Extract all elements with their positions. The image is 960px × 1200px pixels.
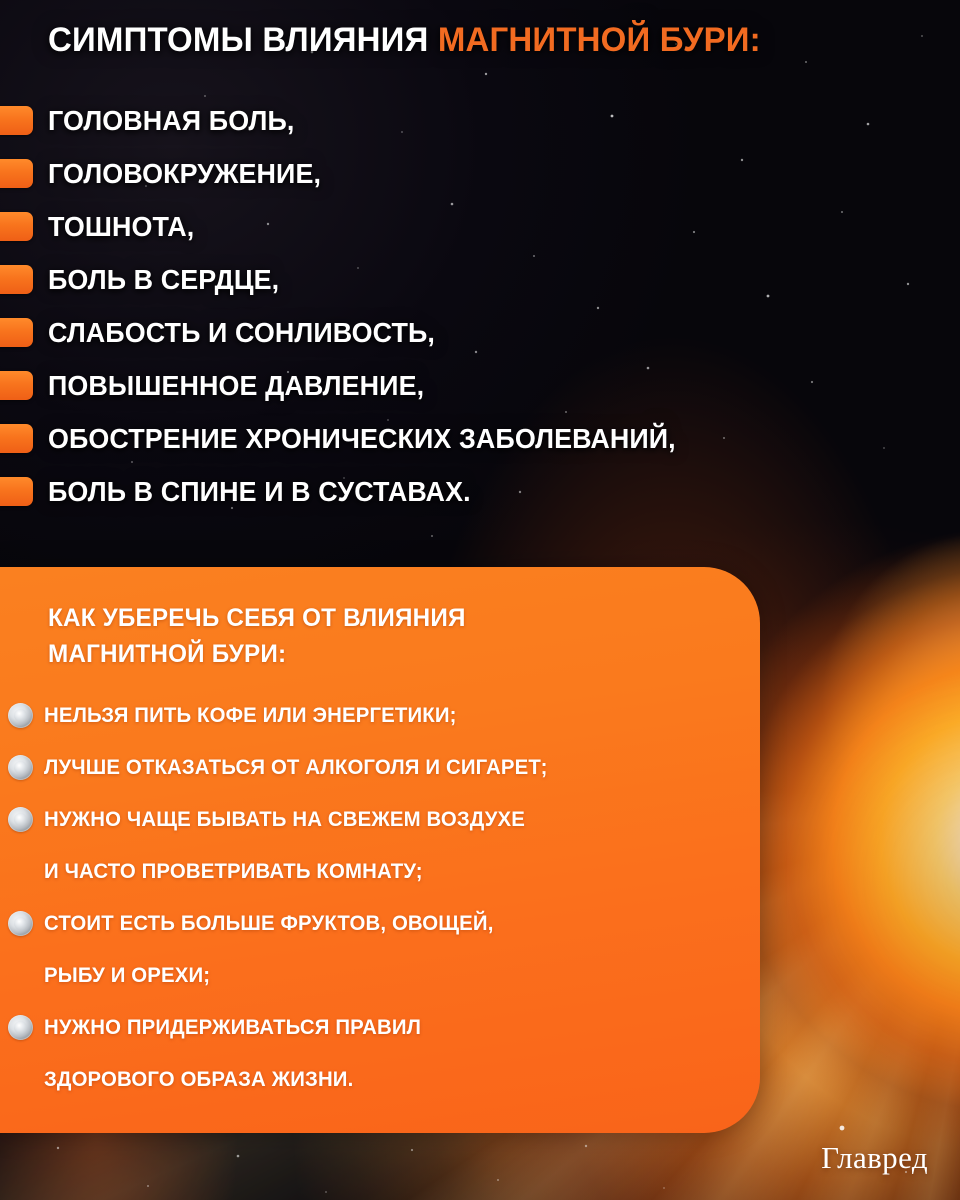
tab-bullet-icon: [0, 265, 33, 294]
advice-line: НЕЛЬЗЯ ПИТЬ КОФЕ ИЛИ ЭНЕРГЕТИКИ;: [0, 695, 760, 747]
advice-line-continued: И ЧАСТО ПРОВЕТРИВАТЬ КОМНАТУ;: [0, 851, 760, 903]
symptoms-section: СИМПТОМЫ ВЛИЯНИЯ МАГНИТНОЙ БУРИ: ГОЛОВНА…: [0, 0, 960, 567]
advice-label: НЕЛЬЗЯ ПИТЬ КОФЕ ИЛИ ЭНЕРГЕТИКИ;: [44, 695, 457, 737]
tab-bullet-icon: [0, 318, 33, 347]
advice-title-line1: КАК УБЕРЕЧЬ СЕБЯ ОТ ВЛИЯНИЯ: [48, 600, 466, 636]
advice-line: НУЖНО ЧАЩЕ БЫВАТЬ НА СВЕЖЕМ ВОЗДУХЕ: [0, 799, 760, 851]
list-item: ГОЛОВНАЯ БОЛЬ,: [0, 96, 960, 149]
advice-list: НЕЛЬЗЯ ПИТЬ КОФЕ ИЛИ ЭНЕРГЕТИКИ; ЛУЧШЕ О…: [0, 695, 760, 1111]
list-item: ПОВЫШЕННОЕ ДАВЛЕНИЕ,: [0, 361, 960, 414]
tab-bullet-icon: [0, 371, 33, 400]
advice-label-continued: ЗДОРОВОГО ОБРАЗА ЖИЗНИ.: [44, 1059, 353, 1101]
tab-bullet-icon: [0, 212, 33, 241]
tab-bullet-icon: [0, 159, 33, 188]
symptom-label: БОЛЬ В СПИНЕ И В СУСТАВАХ.: [48, 470, 471, 513]
list-item: ОБОСТРЕНИЕ ХРОНИЧЕСКИХ ЗАБОЛЕВАНИЙ,: [0, 414, 960, 467]
list-item: НУЖНО ЧАЩЕ БЫВАТЬ НА СВЕЖЕМ ВОЗДУХЕ И ЧА…: [0, 799, 760, 903]
tab-bullet-icon: [0, 477, 33, 506]
publisher-watermark: Главред: [821, 1140, 928, 1176]
circle-bullet-icon: [8, 1015, 33, 1040]
advice-title-line2: МАГНИТНОЙ БУРИ:: [48, 636, 466, 672]
list-item: СТОИТ ЕСТЬ БОЛЬШЕ ФРУКТОВ, ОВОЩЕЙ, РЫБУ …: [0, 903, 760, 1007]
list-item: БОЛЬ В СЕРДЦЕ,: [0, 255, 960, 308]
advice-label-continued: И ЧАСТО ПРОВЕТРИВАТЬ КОМНАТУ;: [44, 851, 423, 893]
symptoms-list: ГОЛОВНАЯ БОЛЬ, ГОЛОВОКРУЖЕНИЕ, ТОШНОТА, …: [0, 96, 960, 520]
list-item: БОЛЬ В СПИНЕ И В СУСТАВАХ.: [0, 467, 960, 520]
advice-line: СТОИТ ЕСТЬ БОЛЬШЕ ФРУКТОВ, ОВОЩЕЙ,: [0, 903, 760, 955]
infographic-poster: СИМПТОМЫ ВЛИЯНИЯ МАГНИТНОЙ БУРИ: ГОЛОВНА…: [0, 0, 960, 1200]
list-item: НЕЛЬЗЯ ПИТЬ КОФЕ ИЛИ ЭНЕРГЕТИКИ;: [0, 695, 760, 747]
symptom-label: ОБОСТРЕНИЕ ХРОНИЧЕСКИХ ЗАБОЛЕВАНИЙ,: [48, 417, 676, 460]
advice-label: ЛУЧШЕ ОТКАЗАТЬСЯ ОТ АЛКОГОЛЯ И СИГАРЕТ;: [44, 747, 548, 789]
advice-label-continued: РЫБУ И ОРЕХИ;: [44, 955, 210, 997]
advice-label: НУЖНО ЧАЩЕ БЫВАТЬ НА СВЕЖЕМ ВОЗДУХЕ: [44, 799, 525, 841]
symptom-label: ТОШНОТА,: [48, 205, 194, 248]
circle-bullet-icon: [8, 703, 33, 728]
page-title-white: СИМПТОМЫ ВЛИЯНИЯ: [48, 21, 428, 59]
list-item: СЛАБОСТЬ И СОНЛИВОСТЬ,: [0, 308, 960, 361]
advice-panel: КАК УБЕРЕЧЬ СЕБЯ ОТ ВЛИЯНИЯ МАГНИТНОЙ БУ…: [0, 567, 760, 1133]
list-item: ТОШНОТА,: [0, 202, 960, 255]
tab-bullet-icon: [0, 424, 33, 453]
symptom-label: ПОВЫШЕННОЕ ДАВЛЕНИЕ,: [48, 364, 424, 407]
circle-bullet-icon: [8, 807, 33, 832]
advice-line-continued: РЫБУ И ОРЕХИ;: [0, 955, 760, 1007]
circle-bullet-icon: [8, 755, 33, 780]
advice-panel-title: КАК УБЕРЕЧЬ СЕБЯ ОТ ВЛИЯНИЯ МАГНИТНОЙ БУ…: [48, 600, 466, 672]
list-item: НУЖНО ПРИДЕРЖИВАТЬСЯ ПРАВИЛ ЗДОРОВОГО ОБ…: [0, 1007, 760, 1111]
symptom-label: БОЛЬ В СЕРДЦЕ,: [48, 258, 279, 301]
symptom-label: ГОЛОВОКРУЖЕНИЕ,: [48, 152, 321, 195]
list-item: ЛУЧШЕ ОТКАЗАТЬСЯ ОТ АЛКОГОЛЯ И СИГАРЕТ;: [0, 747, 760, 799]
circle-bullet-icon: [8, 911, 33, 936]
advice-line: НУЖНО ПРИДЕРЖИВАТЬСЯ ПРАВИЛ: [0, 1007, 760, 1059]
advice-label: НУЖНО ПРИДЕРЖИВАТЬСЯ ПРАВИЛ: [44, 1007, 421, 1049]
advice-line: ЛУЧШЕ ОТКАЗАТЬСЯ ОТ АЛКОГОЛЯ И СИГАРЕТ;: [0, 747, 760, 799]
page-title-accent: МАГНИТНОЙ БУРИ:: [438, 21, 761, 59]
symptom-label: ГОЛОВНАЯ БОЛЬ,: [48, 99, 294, 142]
advice-label: СТОИТ ЕСТЬ БОЛЬШЕ ФРУКТОВ, ОВОЩЕЙ,: [44, 903, 494, 945]
list-item: ГОЛОВОКРУЖЕНИЕ,: [0, 149, 960, 202]
symptom-label: СЛАБОСТЬ И СОНЛИВОСТЬ,: [48, 311, 435, 354]
advice-line-continued: ЗДОРОВОГО ОБРАЗА ЖИЗНИ.: [0, 1059, 760, 1111]
tab-bullet-icon: [0, 106, 33, 135]
page-title: СИМПТОМЫ ВЛИЯНИЯ МАГНИТНОЙ БУРИ:: [48, 23, 761, 57]
